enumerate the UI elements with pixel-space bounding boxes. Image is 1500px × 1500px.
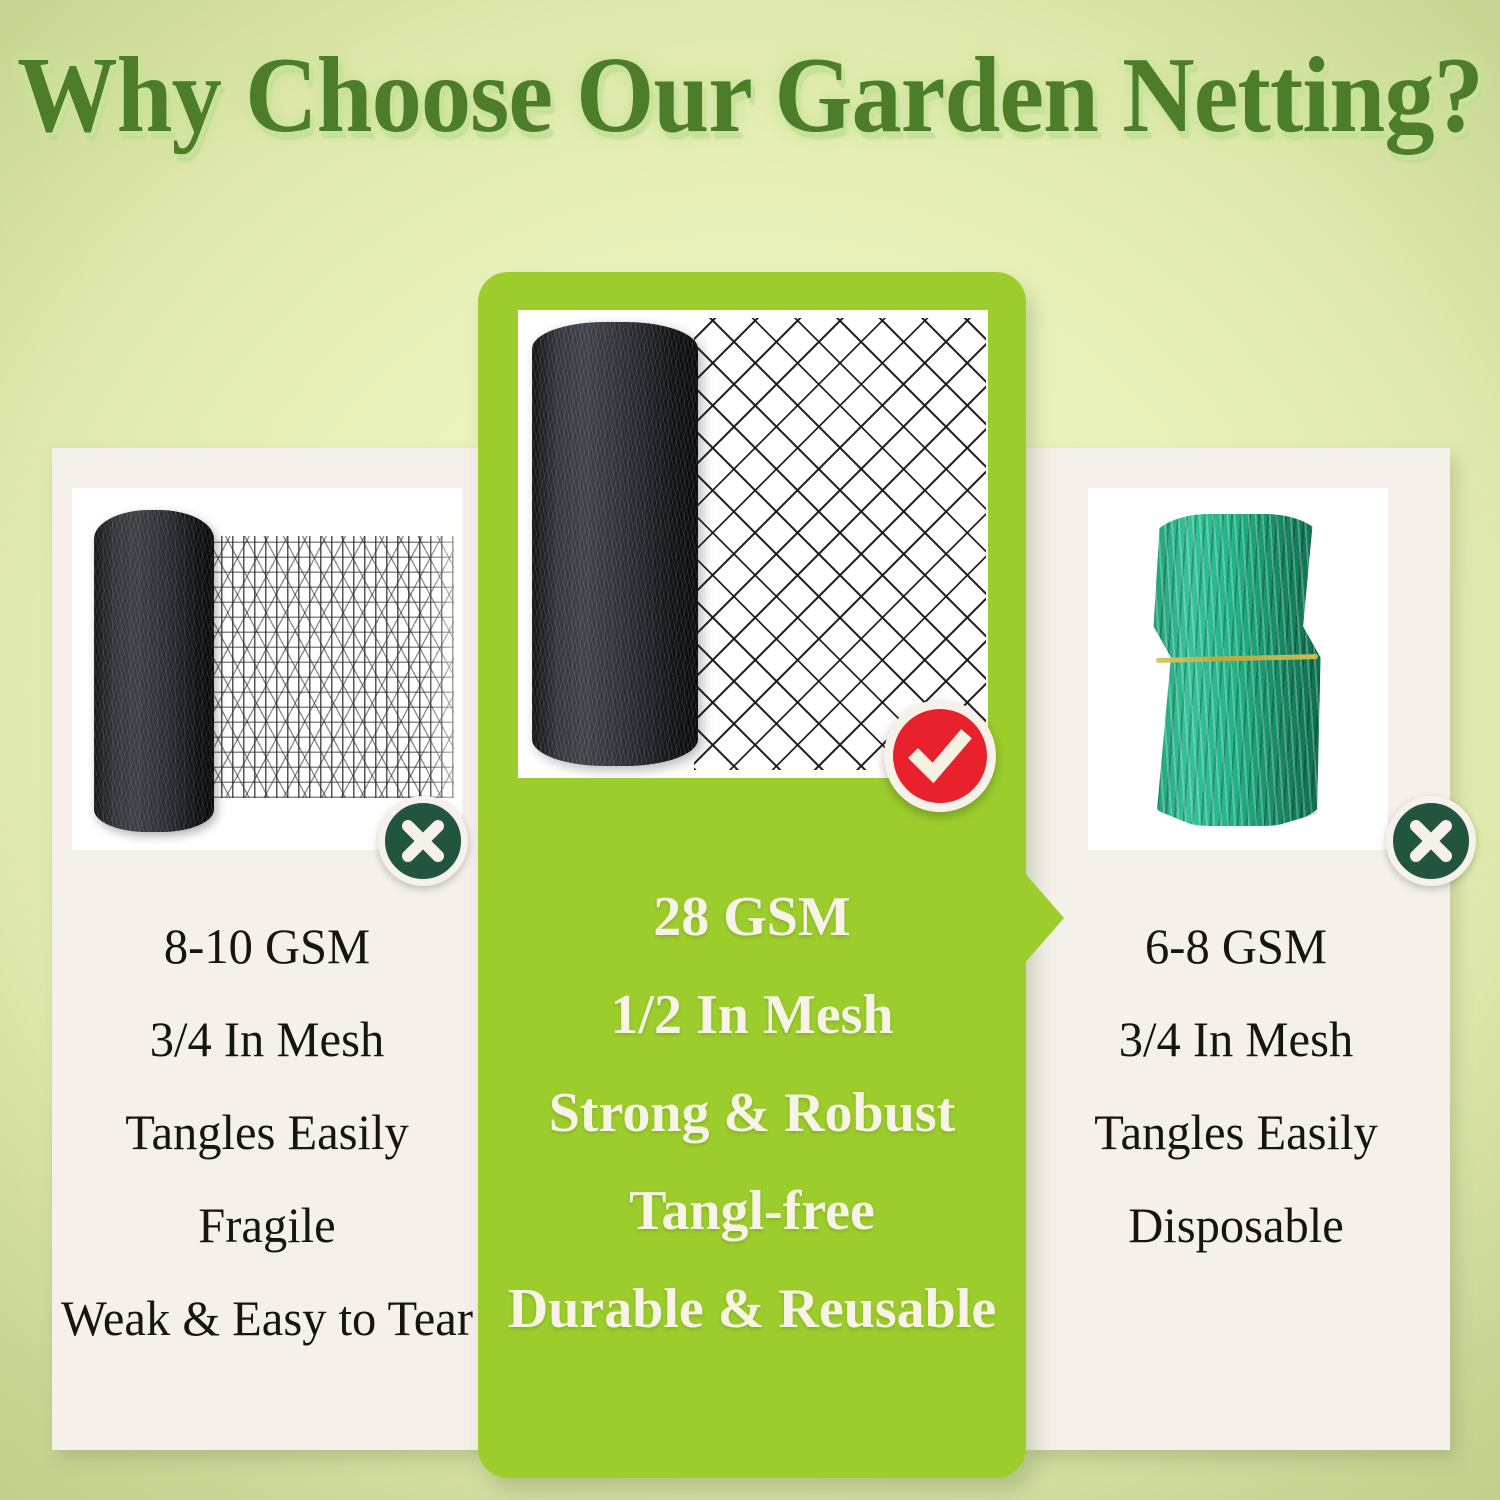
spec-line-gsm: 28 GSM <box>478 868 1026 966</box>
spec-line-mesh: 3/4 In Mesh <box>58 993 475 1086</box>
black-netting-roll-image <box>94 510 214 832</box>
spec-line-gsm: 6-8 GSM <box>1028 900 1443 993</box>
spec-line-tangle: Tangl-free <box>478 1162 1026 1260</box>
reject-badge-right <box>1386 796 1476 886</box>
spec-line-durability: Fragile <box>58 1179 475 1272</box>
x-mark-icon <box>395 813 451 869</box>
spec-line-strength: Strong & Robust <box>478 1064 1026 1162</box>
page-title: Why Choose Our Garden Netting? <box>17 42 1483 150</box>
spec-line-gsm: 8-10 GSM <box>58 900 475 993</box>
recommended-badge-center <box>884 700 996 812</box>
spec-line-mesh: 1/2 In Mesh <box>478 966 1026 1064</box>
comparison-card-right: 6-8 GSM 3/4 In Mesh Tangles Easily Dispo… <box>1022 448 1450 1450</box>
spec-line-durability: Disposable <box>1028 1179 1443 1272</box>
spec-line-tangle: Tangles Easily <box>1028 1086 1443 1179</box>
loose-mesh-image <box>210 536 454 798</box>
comparison-card-left: 8-10 GSM 3/4 In Mesh Tangles Easily Frag… <box>52 448 482 1450</box>
check-mark-icon <box>904 720 976 792</box>
spec-line-durability: Durable & Reusable <box>478 1260 1026 1358</box>
product-photo-right <box>1088 488 1388 850</box>
spec-line-mesh: 3/4 In Mesh <box>1028 993 1443 1086</box>
infographic-canvas: Why Choose Our Garden Netting? 8-10 GSM … <box>0 0 1500 1500</box>
reject-badge-left <box>378 796 468 886</box>
card-arrow-notch <box>1024 872 1064 964</box>
spec-list-right: 6-8 GSM 3/4 In Mesh Tangles Easily Dispo… <box>1022 900 1450 1272</box>
x-mark-icon <box>1403 813 1459 869</box>
comparison-card-center: 28 GSM 1/2 In Mesh Strong & Robust Tangl… <box>478 272 1026 1478</box>
green-bundled-netting-image <box>1150 514 1324 826</box>
spec-line-strength: Weak & Easy to Tear <box>58 1272 475 1365</box>
black-netting-roll-image <box>532 322 698 766</box>
title-band: Why Choose Our Garden Netting? <box>0 36 1500 156</box>
spec-list-left: 8-10 GSM 3/4 In Mesh Tangles Easily Frag… <box>52 900 482 1365</box>
product-photo-left <box>72 488 462 850</box>
spec-list-center: 28 GSM 1/2 In Mesh Strong & Robust Tangl… <box>478 868 1026 1358</box>
spec-line-tangle: Tangles Easily <box>58 1086 475 1179</box>
